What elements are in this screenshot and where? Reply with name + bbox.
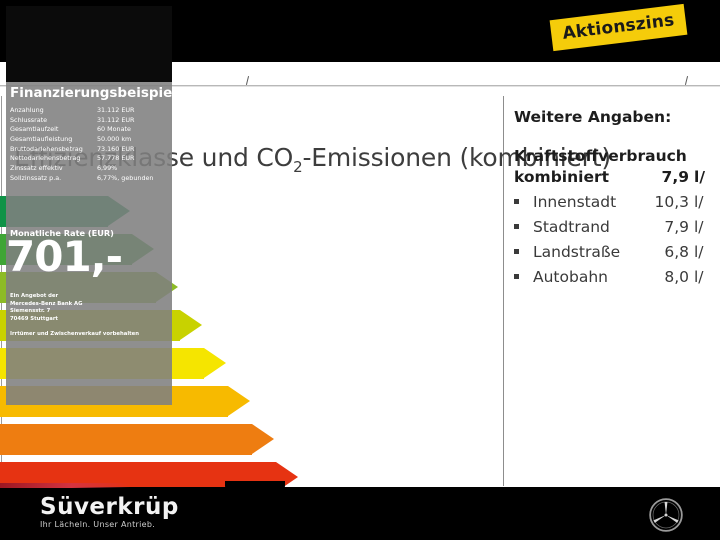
financing-row-value: 50.000 km — [93, 135, 162, 145]
financing-table-row: Sollzinssatz p.a.6,77%, gebunden — [10, 174, 162, 184]
financing-panel-title: Finanzierungsbeispiel — [10, 85, 177, 101]
financing-row-value: 60 Monate — [93, 125, 162, 135]
financing-fineprint-line: 70469 Stuttgart — [10, 316, 160, 324]
financing-fineprint-line: Mercedes-Benz Bank AG — [10, 301, 160, 309]
financing-table-row: Gesamtlaufleistung50.000 km — [10, 135, 162, 145]
bullet-icon — [514, 249, 519, 254]
financing-table-row: Nettodarlehensbetrag57.778 EUR — [10, 154, 162, 164]
financing-row-value: 31.112 EUR — [93, 116, 162, 126]
mercedes-star-icon — [648, 497, 684, 533]
financing-row-label: Zinssatz effektiv — [10, 164, 93, 174]
fuel-consumption-heading: Kraftstoffverbrauch kombiniert 7,9 l/ — [514, 146, 720, 188]
fuel-consumption-row-unit: l/ — [689, 190, 720, 215]
fuel-consumption-row-value: 7,9 — [664, 215, 689, 240]
financing-row-label: Sollzinssatz p.a. — [10, 174, 93, 184]
fuel-consumption-combined-row: kombiniert 7,9 l/ — [514, 167, 720, 188]
further-details-title: Weitere Angaben: — [514, 108, 720, 126]
financing-row-value: 57.778 EUR — [93, 154, 162, 164]
fuel-consumption-list: Innenstadt10,3l/Stadtrand7,9l/Landstraße… — [514, 190, 720, 290]
fuel-consumption-row-value: 6,8 — [664, 240, 689, 265]
financing-fineprint: Ein Angebot derMercedes-Benz Bank AGSiem… — [10, 293, 160, 339]
financing-table: Anzahlung31.112 EURSchlussrate31.112 EUR… — [10, 106, 162, 184]
bullet-icon — [514, 274, 519, 279]
financing-table-row: Bruttodarlehensbetrag73.160 EUR — [10, 145, 162, 155]
fuel-consumption-row-value: 8,0 — [664, 265, 689, 290]
footer-accent-swoosh — [0, 483, 130, 488]
financing-table-row: Gesamtlaufzeit60 Monate — [10, 125, 162, 135]
financing-table-row: Zinssatz effektiv6,99% — [10, 164, 162, 174]
fuel-consumption-row-label: Autobahn — [533, 265, 608, 290]
efficiency-arrow — [0, 424, 420, 455]
financing-row-label: Bruttodarlehensbetrag — [10, 145, 93, 155]
header-tick-left — [246, 76, 249, 85]
fuel-consumption-combined-value: 7,9 — [662, 167, 689, 188]
fuel-consumption-row: Stadtrand7,9l/ — [514, 215, 720, 240]
bullet-icon — [514, 199, 519, 204]
financing-panel-header-block — [6, 6, 172, 82]
header-tick-right — [685, 76, 688, 85]
fuel-consumption-combined-unit: l/ — [689, 167, 720, 188]
fuel-consumption-label-line2: kombiniert — [514, 167, 609, 188]
dealer-name: Süverkrüp — [40, 494, 179, 520]
financing-row-label: Anzahlung — [10, 106, 93, 116]
financing-fineprint-line: Siemensstr. 7 — [10, 308, 160, 316]
financing-table-row: Anzahlung31.112 EUR — [10, 106, 162, 116]
financing-row-label: Nettodarlehensbetrag — [10, 154, 93, 164]
fuel-consumption-row-label: Innenstadt — [533, 190, 616, 215]
monthly-rate-value: 701,- — [6, 236, 122, 278]
dealer-claim: Ihr Lächeln. Unser Antrieb. — [40, 520, 179, 529]
financing-row-value: 73.160 EUR — [93, 145, 162, 155]
fuel-consumption-row: Innenstadt10,3l/ — [514, 190, 720, 215]
slide-canvas: Effizienzklasse und CO2-Emissionen (komb… — [0, 0, 720, 540]
further-details-column: Weitere Angaben: Kraftstoffverbrauch kom… — [514, 108, 720, 290]
financing-fineprint-line: Ein Angebot der — [10, 293, 160, 301]
bullet-icon — [514, 224, 519, 229]
dealer-logo: Süverkrüp Ihr Lächeln. Unser Antrieb. — [40, 494, 179, 529]
fuel-consumption-row-unit: l/ — [689, 265, 720, 290]
footer-notch — [225, 481, 285, 489]
financing-row-label: Gesamtlaufleistung — [10, 135, 93, 145]
financing-row-value: 6,77%, gebunden — [93, 174, 162, 184]
fuel-consumption-row-label: Stadtrand — [533, 215, 610, 240]
fuel-consumption-label-line1: Kraftstoffverbrauch — [514, 146, 720, 167]
financing-table-row: Schlussrate31.112 EUR — [10, 116, 162, 126]
fuel-consumption-row-unit: l/ — [689, 240, 720, 265]
financing-row-label: Gesamtlaufzeit — [10, 125, 93, 135]
fineprint-spacer — [10, 323, 160, 331]
financing-row-value: 6,99% — [93, 164, 162, 174]
fuel-consumption-row-unit: l/ — [689, 215, 720, 240]
fuel-consumption-row: Autobahn8,0l/ — [514, 265, 720, 290]
fuel-consumption-row: Landstraße6,8l/ — [514, 240, 720, 265]
financing-row-label: Schlussrate — [10, 116, 93, 126]
fuel-consumption-row-value: 10,3 — [654, 190, 689, 215]
financing-disclaimer: Irrtümer und Zwischenverkauf vorbehalten — [10, 331, 160, 339]
fuel-consumption-row-label: Landstraße — [533, 240, 620, 265]
financing-row-value: 31.112 EUR — [93, 106, 162, 116]
